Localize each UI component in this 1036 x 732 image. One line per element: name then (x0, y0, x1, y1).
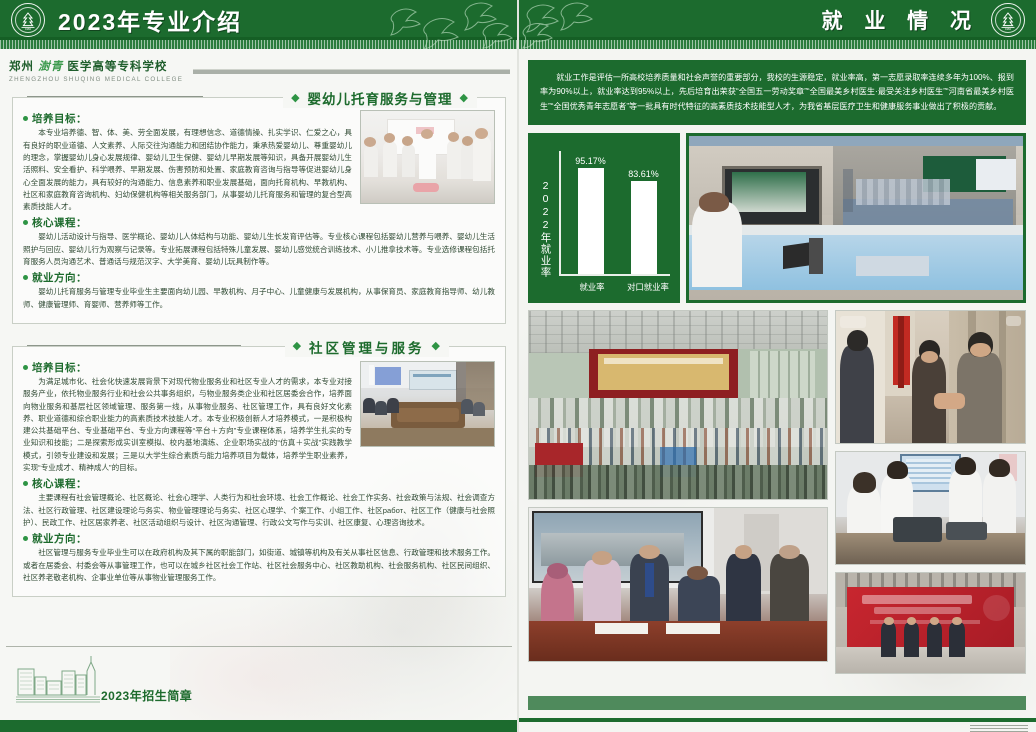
left-page-title: 2023年专业介绍 (58, 3, 242, 37)
chart-bar-0 (578, 168, 604, 274)
school-name-suffix: 医学高等专科学校 (67, 61, 167, 73)
school-seal-icon: 1984 (991, 3, 1025, 37)
major-title-2: ◆ 社区管理与服务 ◆ (285, 337, 449, 357)
right-footer-line (518, 718, 1036, 722)
svg-text:1984: 1984 (1005, 27, 1011, 31)
photo-column-left (528, 310, 828, 674)
brand-divider (193, 69, 510, 74)
chart-y-axis (559, 151, 561, 275)
bullet-icon (23, 365, 28, 370)
major-title-1-text: 婴幼儿托育服务与管理 (308, 88, 453, 108)
section-heading-text: 培养目标： (32, 111, 87, 126)
photo-classroom-control-room (686, 133, 1026, 303)
photo-lab-training (835, 451, 1026, 565)
school-name-en: ZHENGZHOU SHUQING MEDICAL COLLEGE (9, 76, 183, 83)
major-title-1: ◆ 婴幼儿托育服务与管理 ◆ (283, 88, 477, 108)
right-page: 就 业 情 况 1984 就业工作是评估一所高校培养质量和社会声誉的重要部分，我… (518, 0, 1036, 732)
section-heading-text: 核心课程： (32, 215, 87, 230)
right-footer-bar (528, 696, 1026, 710)
photo-job-fair-hall (528, 310, 828, 500)
photo-column-right (835, 310, 1026, 674)
section-body: 婴幼儿活动设计与指导、医学概论、婴幼儿人体结构与功能、婴幼儿生长发育评估等。专业… (23, 231, 495, 268)
school-name-prefix: 郑州 (9, 61, 34, 73)
major-title-2-text: 社区管理与服务 (309, 337, 425, 357)
chart-x-axis (559, 274, 670, 276)
bullet-icon (23, 116, 28, 121)
bullet-icon (23, 220, 28, 225)
school-seal-icon: 1984 (11, 3, 45, 37)
section-heading: 培养目标： (23, 360, 352, 375)
school-name-block: 郑州 澍青 医学高等专科学校 ZHENGZHOU SHUQING MEDICAL… (9, 60, 183, 83)
footer-tick-decoration (970, 724, 1028, 732)
section-heading-text: 就业方向： (32, 270, 87, 285)
footer-label: 2023年招生简章 (101, 687, 192, 704)
diamond-icon: ◆ (432, 341, 441, 352)
diamond-icon: ◆ (293, 341, 302, 352)
major-card-community-management: ◆ 社区管理与服务 ◆ (12, 346, 506, 597)
photo-meeting-signing (528, 507, 828, 662)
section-heading-text: 就业方向： (32, 531, 87, 546)
section-body: 主要课程有社会管理概论、社区概论、社会心理学、人类行为和社会环境、社会工作概论、… (23, 492, 495, 529)
chart-category-0: 就业率 (568, 281, 616, 293)
chart-bar-value-0: 95.17% (575, 156, 606, 166)
photo-leader-handshake (835, 310, 1026, 444)
chart-bar-1 (631, 181, 657, 274)
city-skyline-icon (16, 653, 100, 708)
card-title-rule (27, 345, 241, 346)
major-card-infant-care: ◆ 婴幼儿托育服务与管理 ◆ (12, 97, 506, 324)
left-footer: 2023年招生简章 (0, 646, 518, 732)
diamond-icon: ◆ (460, 93, 469, 104)
chart-and-photo-row: 2022年就业率 95.17% 83.61% 就业率 对口就业率 (528, 133, 1026, 303)
bullet-icon (23, 536, 28, 541)
major-1-section-1: 核心课程： 婴幼儿活动设计与指导、医学概论、婴幼儿人体结构与功能、婴幼儿生长发育… (23, 215, 495, 268)
right-header: 就 业 情 况 1984 (518, 0, 1036, 49)
section-body: 婴幼儿托育服务与管理专业毕业生主要面向幼儿园、早教机构、月子中心、儿童健康与发展… (23, 286, 495, 311)
card-title-rule (27, 96, 203, 97)
section-heading: 核心课程： (23, 476, 495, 491)
left-header: 1984 2023年专业介绍 (0, 0, 518, 49)
major-2-section-1: 核心课程： 主要课程有社会管理概论、社区概论、社会心理学、人类行为和社会环境、社… (23, 476, 495, 529)
page-gutter (517, 0, 519, 732)
chart-bars: 95.17% 83.61% (564, 151, 670, 274)
major-2-section-2: 就业方向： 社区管理与服务专业毕业生可以在政府机构及其下属的职能部门，如街道、城… (23, 531, 495, 584)
employment-rate-chart: 2022年就业率 95.17% 83.61% 就业率 对口就业率 (528, 133, 680, 303)
footer-divider (6, 646, 512, 647)
school-name-cn: 郑州 澍青 医学高等专科学校 (9, 60, 183, 74)
section-heading: 核心课程： (23, 215, 495, 230)
chart-bar-group: 83.61% (621, 169, 667, 274)
footer-green-bar (0, 720, 518, 732)
photo-infant-care-class (360, 110, 495, 204)
diamond-icon: ◆ (291, 93, 300, 104)
section-heading-text: 核心课程： (32, 476, 87, 491)
right-page-title: 就 业 情 况 (821, 5, 979, 35)
bullet-icon (23, 275, 28, 280)
school-brand: 郑州 澍青 医学高等专科学校 ZHENGZHOU SHUQING MEDICAL… (0, 49, 518, 83)
bullet-icon (23, 481, 28, 486)
section-heading: 培养目标： (23, 111, 352, 126)
left-page: 1984 2023年专业介绍 郑州 澍青 医学高等专科学校 ZHENGZHOU … (0, 0, 518, 732)
photo-grid (528, 310, 1026, 674)
school-name-signature: 澍青 (38, 61, 63, 73)
section-heading: 就业方向： (23, 531, 495, 546)
svg-text:1984: 1984 (25, 27, 31, 31)
chart-bar-group: 95.17% (568, 156, 614, 274)
chart-category-1: 对口就业率 (620, 281, 676, 293)
brochure-spread: 1984 2023年专业介绍 郑州 澍青 医学高等专科学校 ZHENGZHOU … (0, 0, 1036, 732)
section-body: 社区管理与服务专业毕业生可以在政府机构及其下属的职能部门，如街道、城镇等机构及有… (23, 547, 495, 584)
employment-intro-text: 就业工作是评估一所高校培养质量和社会声誉的重要部分，我校的生源稳定，就业率高，第… (528, 60, 1026, 125)
chart-bar-value-1: 83.61% (628, 169, 659, 179)
major-1-section-2: 就业方向： 婴幼儿托育服务与管理专业毕业生主要面向幼儿园、早教机构、月子中心、儿… (23, 270, 495, 311)
photo-community-meeting (360, 361, 495, 447)
chart-y-axis-label: 2022年就业率 (539, 177, 553, 281)
photo-award-ceremony (835, 572, 1026, 674)
section-heading-text: 培养目标： (32, 360, 87, 375)
section-heading: 就业方向： (23, 270, 495, 285)
